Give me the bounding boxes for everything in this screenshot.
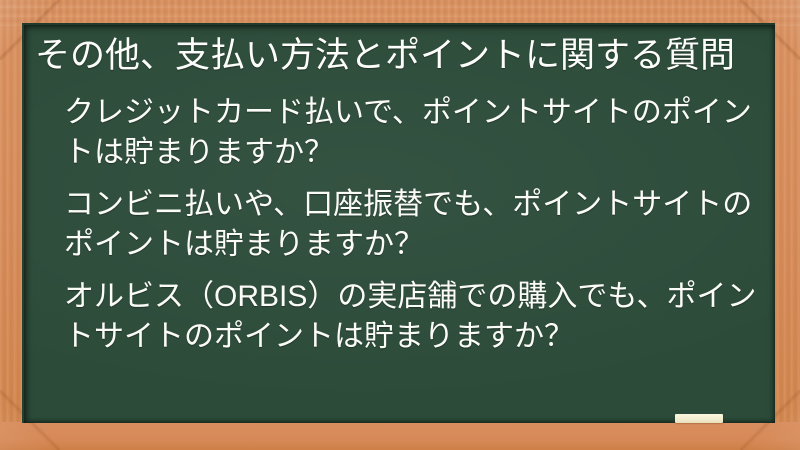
slide-title: その他、支払い方法とポイントに関する質問 [35,33,740,79]
question-item-1: クレジットカード払いで、ポイントサイトのポイントは貯まりますか？ [35,93,761,173]
chalkboard-surface: その他、支払い方法とポイントに関する質問 クレジットカード払いで、ポイントサイト… [22,23,775,423]
chalk-stick-icon [675,414,723,423]
frame-bottom-ledge [0,422,800,450]
blackboard-slide: その他、支払い方法とポイントに関する質問 クレジットカード払いで、ポイントサイト… [0,0,800,450]
question-list: クレジットカード払いで、ポイントサイトのポイントは貯まりますか？ コンビニ払いや… [35,93,761,357]
chalkboard-content: その他、支払い方法とポイントに関する質問 クレジットカード払いで、ポイントサイト… [24,25,775,423]
question-item-2: コンビニ払いや、口座振替でも、ポイントサイトのポイントは貯まりますか？ [35,185,761,265]
question-item-3: オルビス（ORBIS）の実店舗での購入でも、ポイントサイトのポイントは貯まります… [35,277,761,357]
